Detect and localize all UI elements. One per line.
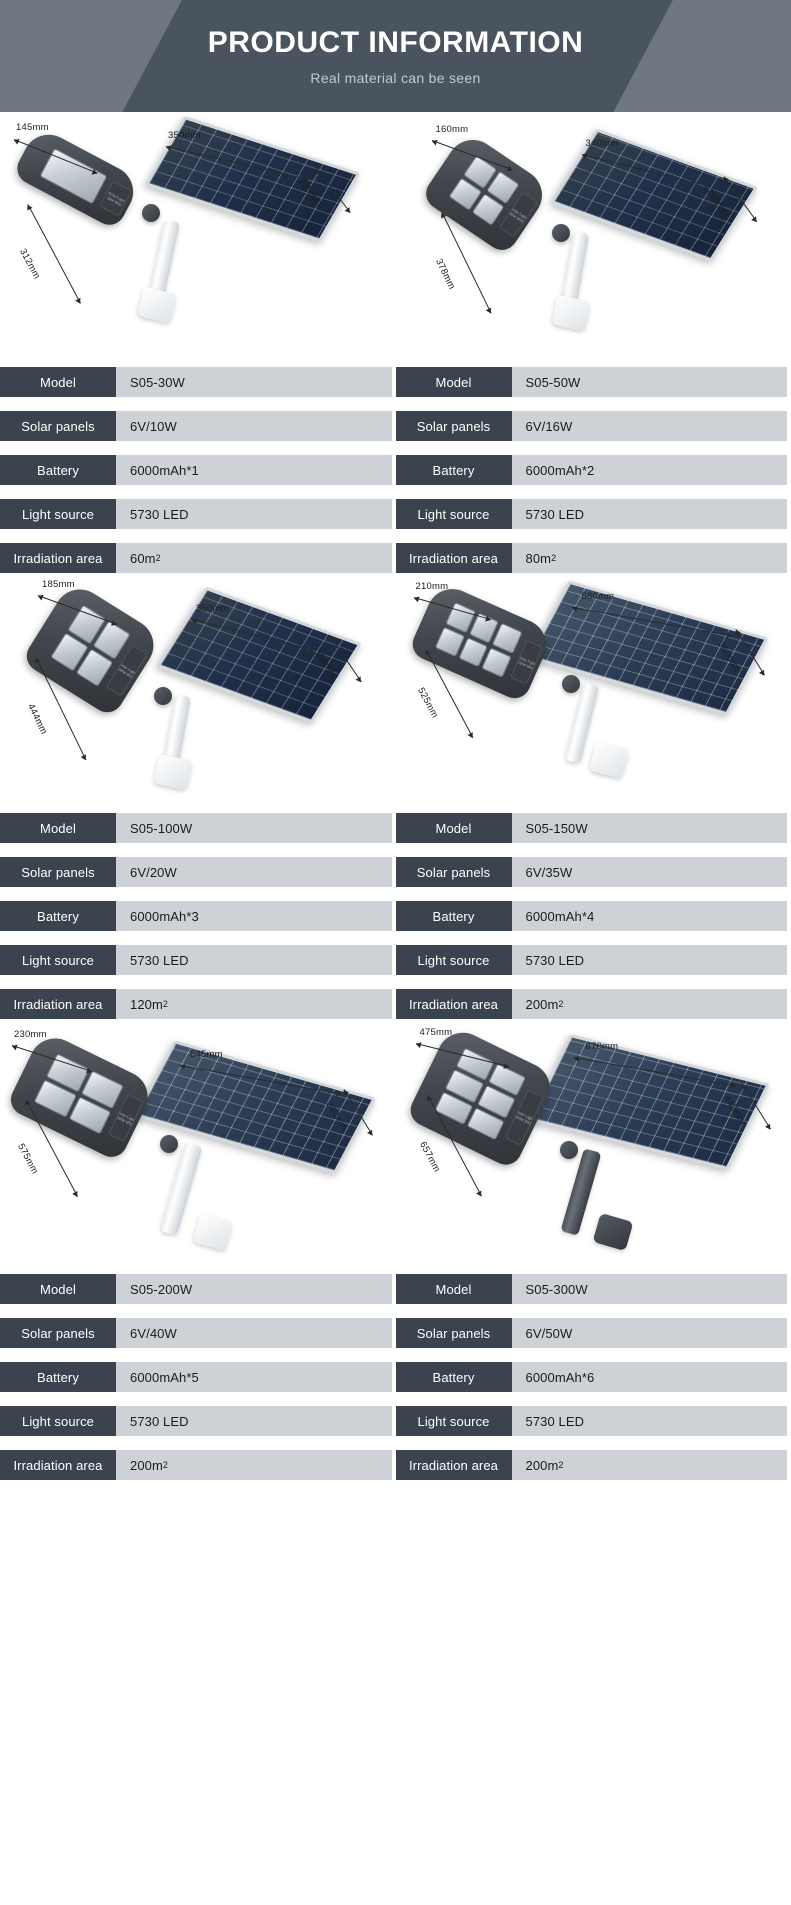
spec-value-light-source: 5730 LED (116, 499, 392, 529)
lamp-head: Solar Light100W IP65 (21, 580, 163, 719)
product-card-s05-30w: Solar Light30W IP65145mm350mm235mm312mmM… (0, 112, 396, 573)
spec-table: ModelS05-30WSolar panels6V/10WBattery600… (0, 367, 396, 573)
dimension-label-head-width: 230mm (14, 1029, 47, 1040)
lamp-head: Solar Light30W IP65 (12, 126, 142, 231)
solar-panel (527, 581, 768, 716)
spec-label-irradiation-area: Irradiation area (0, 543, 116, 573)
spec-value-model: S05-50W (512, 367, 788, 397)
spec-value-light-source: 5730 LED (512, 1406, 788, 1436)
product-card-s05-150w: Solar Light150W IP65210mm580mm360mm525mm… (396, 573, 791, 1019)
spec-table: ModelS05-300WSolar panels6V/50WBattery60… (396, 1274, 791, 1480)
spec-label-battery: Battery (0, 901, 116, 931)
wall-bracket (588, 741, 628, 778)
spec-value-model: S05-300W (512, 1274, 788, 1304)
solar-panel (134, 1040, 376, 1174)
dimension-label-panel-length: 645mm (190, 1049, 223, 1060)
product-photo: Solar Light30W IP65145mm350mm235mm312mm (0, 112, 396, 367)
spec-value-solar-panels: 6V/20W (116, 857, 392, 887)
spec-value-solar-panels: 6V/40W (116, 1318, 392, 1348)
page-title: PRODUCT INFORMATION (208, 26, 584, 59)
dimension-label-head-length: 657mm (417, 1140, 442, 1174)
spec-label-battery: Battery (0, 455, 116, 485)
page-header-banner: PRODUCT INFORMATION Real material can be… (0, 0, 791, 112)
spec-row-light-source: Light source5730 LED (396, 945, 788, 975)
spec-row-irradiation-area: Irradiation area200m2 (0, 1450, 392, 1480)
spec-label-irradiation-area: Irradiation area (0, 1450, 116, 1480)
product-row-1: Solar Light30W IP65145mm350mm235mm312mmM… (0, 112, 791, 573)
spec-row-battery: Battery6000mAh*1 (0, 455, 392, 485)
pivot-joint (154, 687, 172, 705)
spec-value-battery: 6000mAh*1 (116, 455, 392, 485)
spec-row-light-source: Light source5730 LED (396, 499, 788, 529)
spec-row-battery: Battery6000mAh*3 (0, 901, 392, 931)
led-module (492, 623, 522, 654)
dimension-label-panel-length: 350mm (196, 603, 229, 614)
spec-label-model: Model (0, 1274, 116, 1304)
product-card-s05-300w: Solar Light300W IP65475mm670mm445mm657mm… (396, 1019, 791, 1480)
product-row-2: Solar Light100W IP65185mm350mm350mm444mm… (0, 573, 791, 1019)
lamp-head: Solar Light50W IP65 (419, 130, 551, 256)
spec-label-light-source: Light source (396, 499, 512, 529)
spec-value-light-source: 5730 LED (116, 1406, 392, 1436)
dimension-label-head-width: 475mm (420, 1027, 453, 1038)
pivot-joint (552, 224, 570, 242)
spec-row-battery: Battery6000mAh*5 (0, 1362, 392, 1392)
spec-label-model: Model (396, 367, 512, 397)
spec-row-irradiation-area: Irradiation area200m2 (396, 989, 788, 1019)
spec-label-battery: Battery (396, 1362, 512, 1392)
product-photo: Solar Light200W IP65230mm645mm360mm575mm (0, 1019, 396, 1274)
spec-row-irradiation-area: Irradiation area60m2 (0, 543, 392, 573)
dimension-label-panel-length: 340mm (586, 138, 619, 149)
wall-bracket (551, 295, 590, 331)
product-photo: Solar Light100W IP65185mm350mm350mm444mm (0, 573, 396, 813)
lamp-head: Solar Light150W IP65 (407, 581, 554, 704)
product-blocks: Solar Light30W IP65145mm350mm235mm312mmM… (0, 112, 791, 1480)
mounting-arm (560, 1148, 601, 1236)
spec-label-model: Model (396, 813, 512, 843)
spec-label-model: Model (396, 1274, 512, 1304)
spec-label-light-source: Light source (0, 945, 116, 975)
spec-label-solar-panels: Solar panels (396, 1318, 512, 1348)
product-photo: Solar Light50W IP65160mm340mm290mm378mm (396, 112, 791, 367)
spec-row-model: ModelS05-300W (396, 1274, 788, 1304)
spec-value-solar-panels: 6V/50W (512, 1318, 788, 1348)
led-module (481, 647, 511, 678)
spec-value-light-source: 5730 LED (512, 499, 788, 529)
spec-row-solar-panels: Solar panels6V/16W (396, 411, 788, 441)
spec-value-irradiation-area: 200m2 (116, 1450, 392, 1480)
spec-value-battery: 6000mAh*6 (512, 1362, 788, 1392)
spec-value-solar-panels: 6V/35W (512, 857, 788, 887)
spec-value-model: S05-200W (116, 1274, 392, 1304)
spec-row-solar-panels: Solar panels6V/50W (396, 1318, 788, 1348)
product-row-3: Solar Light200W IP65230mm645mm360mm575mm… (0, 1019, 791, 1480)
spec-value-solar-panels: 6V/16W (512, 411, 788, 441)
dimension-label-head-length: 525mm (415, 686, 440, 720)
page-subtitle: Real material can be seen (310, 70, 480, 86)
spec-value-battery: 6000mAh*2 (512, 455, 788, 485)
spec-label-battery: Battery (396, 455, 512, 485)
spec-value-model: S05-150W (512, 813, 788, 843)
spec-row-model: ModelS05-200W (0, 1274, 392, 1304)
dimension-label-head-width: 145mm (16, 122, 49, 133)
pivot-joint (562, 675, 580, 693)
dimension-label-head-width: 210mm (416, 581, 449, 592)
spec-label-model: Model (0, 367, 116, 397)
dimension-label-panel-length: 670mm (586, 1041, 619, 1052)
spec-row-battery: Battery6000mAh*4 (396, 901, 788, 931)
spec-label-battery: Battery (0, 1362, 116, 1392)
spec-value-model: S05-30W (116, 367, 392, 397)
spec-label-model: Model (0, 813, 116, 843)
spec-row-solar-panels: Solar panels6V/40W (0, 1318, 392, 1348)
spec-row-light-source: Light source5730 LED (0, 499, 392, 529)
spec-table: ModelS05-150WSolar panels6V/35WBattery60… (396, 813, 791, 1019)
pivot-joint (160, 1135, 178, 1153)
product-card-s05-50w: Solar Light50W IP65160mm340mm290mm378mmM… (396, 112, 791, 573)
spec-row-irradiation-area: Irradiation area80m2 (396, 543, 788, 573)
spec-row-irradiation-area: Irradiation area120m2 (0, 989, 392, 1019)
dimension-label-head-width: 160mm (436, 124, 469, 135)
dimension-label-head-length: 312mm (17, 247, 42, 281)
spec-label-irradiation-area: Irradiation area (396, 989, 512, 1019)
spec-row-model: ModelS05-150W (396, 813, 788, 843)
dimension-label-panel-length: 580mm (582, 591, 615, 602)
spec-value-irradiation-area: 80m2 (512, 543, 788, 573)
spec-value-battery: 6000mAh*5 (116, 1362, 392, 1392)
pivot-joint (142, 204, 160, 222)
spec-row-light-source: Light source5730 LED (0, 1406, 392, 1436)
dimension-label-head-length: 444mm (25, 702, 49, 736)
spec-row-light-source: Light source5730 LED (396, 1406, 788, 1436)
spec-value-irradiation-area: 60m2 (116, 543, 392, 573)
dimension-label-head-length: 378mm (433, 257, 457, 291)
product-card-s05-200w: Solar Light200W IP65230mm645mm360mm575mm… (0, 1019, 396, 1480)
spec-value-light-source: 5730 LED (512, 945, 788, 975)
dimension-label-head-length: 575mm (15, 1142, 40, 1176)
wall-bracket (193, 1213, 234, 1251)
spec-table: ModelS05-100WSolar panels6V/20WBattery60… (0, 813, 396, 1019)
pivot-joint (560, 1141, 578, 1159)
product-card-s05-100w: Solar Light100W IP65185mm350mm350mm444mm… (0, 573, 396, 1019)
wall-bracket (153, 754, 192, 790)
spec-label-solar-panels: Solar panels (396, 857, 512, 887)
product-photo: Solar Light150W IP65210mm580mm360mm525mm (396, 573, 791, 813)
spec-value-irradiation-area: 120m2 (116, 989, 392, 1019)
spec-table: ModelS05-50WSolar panels6V/16WBattery600… (396, 367, 791, 573)
spec-label-solar-panels: Solar panels (0, 857, 116, 887)
spec-value-irradiation-area: 200m2 (512, 1450, 788, 1480)
spec-label-light-source: Light source (396, 1406, 512, 1436)
spec-label-light-source: Light source (0, 1406, 116, 1436)
spec-row-solar-panels: Solar panels6V/35W (396, 857, 788, 887)
wall-bracket (137, 286, 177, 323)
spec-label-battery: Battery (396, 901, 512, 931)
spec-row-light-source: Light source5730 LED (0, 945, 392, 975)
spec-row-irradiation-area: Irradiation area200m2 (396, 1450, 788, 1480)
spec-label-solar-panels: Solar panels (0, 1318, 116, 1348)
dimension-label-head-width: 185mm (42, 579, 75, 590)
spec-row-model: ModelS05-100W (0, 813, 392, 843)
product-photo: Solar Light300W IP65475mm670mm445mm657mm (396, 1019, 791, 1274)
spec-label-irradiation-area: Irradiation area (396, 543, 512, 573)
mounting-arm (160, 1142, 203, 1235)
spec-row-battery: Battery6000mAh*2 (396, 455, 788, 485)
spec-label-light-source: Light source (0, 499, 116, 529)
spec-row-model: ModelS05-50W (396, 367, 788, 397)
spec-value-battery: 6000mAh*4 (512, 901, 788, 931)
led-lens-array (430, 598, 526, 682)
spec-value-light-source: 5730 LED (116, 945, 392, 975)
spec-row-solar-panels: Solar panels6V/20W (0, 857, 392, 887)
spec-label-solar-panels: Solar panels (396, 411, 512, 441)
spec-value-solar-panels: 6V/10W (116, 411, 392, 441)
led-module (39, 148, 107, 204)
spec-label-solar-panels: Solar panels (0, 411, 116, 441)
spec-label-irradiation-area: Irradiation area (0, 989, 116, 1019)
spec-row-solar-panels: Solar panels6V/10W (0, 411, 392, 441)
wall-bracket (592, 1213, 633, 1251)
spec-value-battery: 6000mAh*3 (116, 901, 392, 931)
dimension-line (28, 204, 81, 303)
spec-table: ModelS05-200WSolar panels6V/40WBattery60… (0, 1274, 396, 1480)
spec-label-irradiation-area: Irradiation area (396, 1450, 512, 1480)
dimension-label-panel-length: 350mm (168, 130, 201, 141)
spec-row-model: ModelS05-30W (0, 367, 392, 397)
spec-value-model: S05-100W (116, 813, 392, 843)
spec-value-irradiation-area: 200m2 (512, 989, 788, 1019)
spec-label-light-source: Light source (396, 945, 512, 975)
spec-row-battery: Battery6000mAh*6 (396, 1362, 788, 1392)
